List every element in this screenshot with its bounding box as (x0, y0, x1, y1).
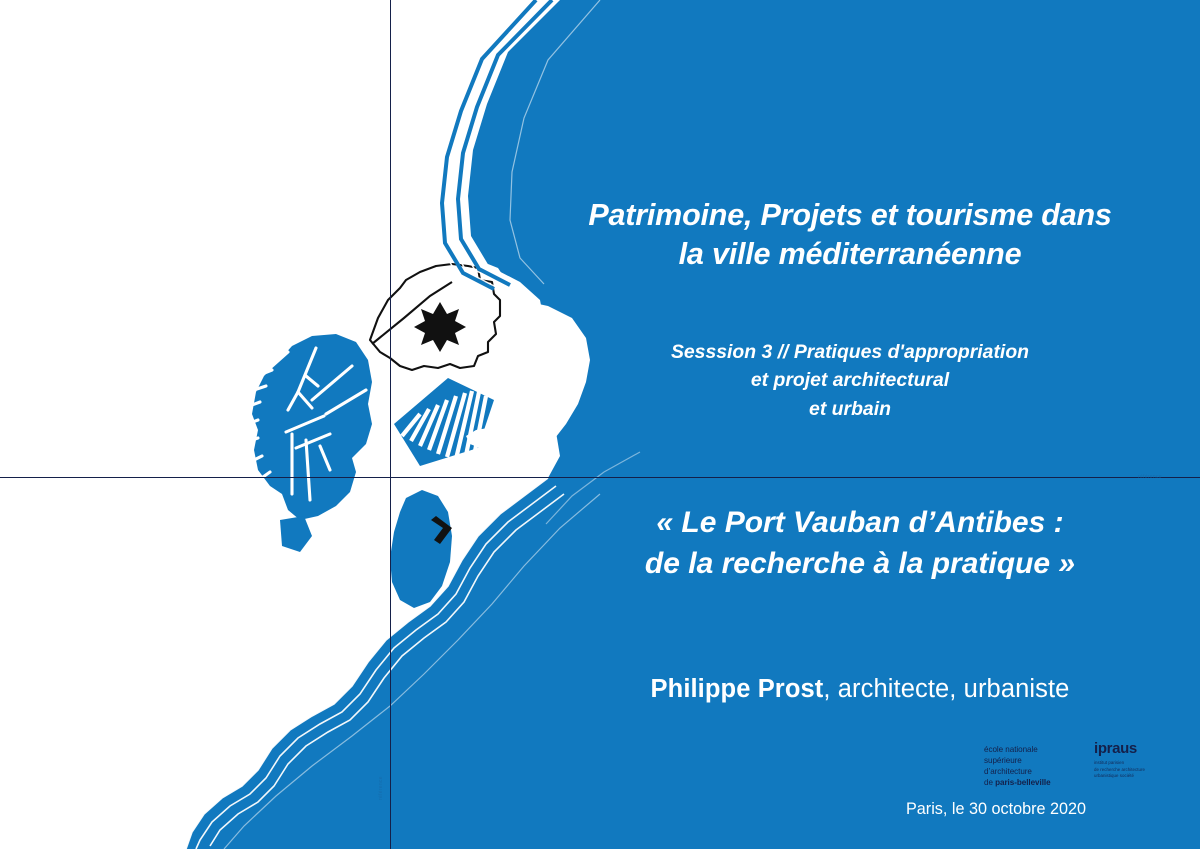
fort-carre-star (414, 302, 466, 352)
crosshair-horizontal-line (0, 477, 1200, 478)
port-vauban-map-illustration (0, 0, 1200, 849)
bottom-edge-caption: référence (378, 776, 384, 800)
crosshair-vertical-line (390, 0, 391, 849)
right-edge-caption: référence (1138, 474, 1162, 480)
presentation-slide: Patrimoine, Projets et tourisme dans la … (0, 0, 1200, 849)
